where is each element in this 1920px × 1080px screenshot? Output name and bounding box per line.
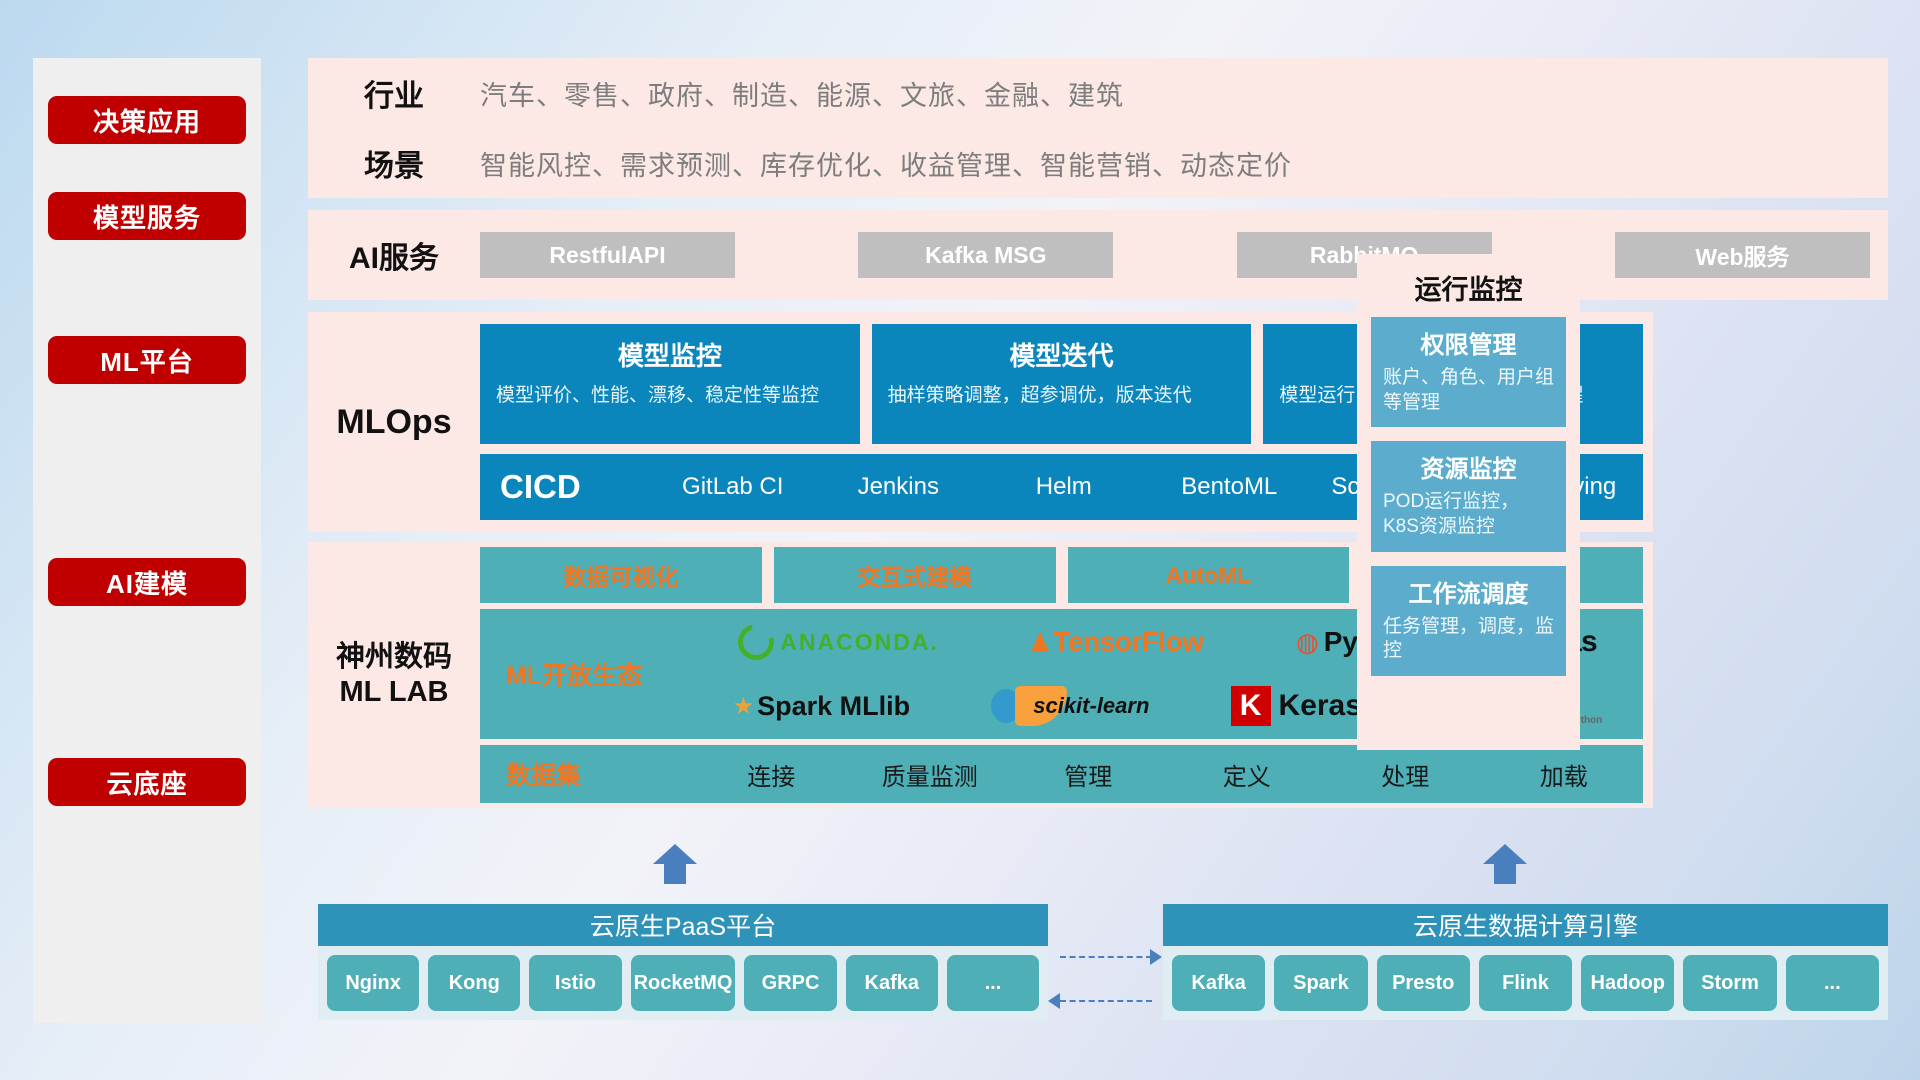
engine-chip[interactable]: Flink (1479, 955, 1572, 1011)
cicd-item[interactable]: BentoML (1147, 474, 1313, 499)
mlops-card-desc: 抽样策略调整，超参调优，版本迭代 (888, 383, 1236, 409)
dataset-row: 数据集 连接 质量监测 管理 定义 处理 加载 (480, 745, 1643, 803)
layer-chip-cloud-base[interactable]: 云底座 (48, 758, 246, 806)
paas-chip[interactable]: Nginx (327, 955, 419, 1011)
dashed-arrow-left-icon (1048, 993, 1060, 1009)
cicd-item[interactable]: GitLab CI (650, 474, 816, 499)
scikit-learn-logo: scikit-learn (991, 686, 1149, 726)
keras-logo: K Keras (1231, 686, 1362, 726)
layer-chip-ai-modeling[interactable]: AI建模 (48, 558, 246, 606)
cicd-item[interactable]: Helm (981, 474, 1147, 499)
monitor-card-resources[interactable]: 资源监控 POD运行监控，K8S资源监控 (1371, 441, 1566, 551)
paas-chip[interactable]: Istio (529, 955, 621, 1011)
tensorflow-mark-icon (1031, 632, 1049, 652)
scenario-row: 场景 智能风控、需求预测、库存优化、收益管理、智能营销、动态定价 (308, 128, 1888, 198)
mlops-card-model-iteration[interactable]: 模型迭代 抽样策略调整，超参调优，版本迭代 (872, 324, 1252, 444)
monitor-card-permissions[interactable]: 权限管理 账户、角色、用户组等管理 (1371, 317, 1566, 427)
layer-chip-decision[interactable]: 决策应用 (48, 96, 246, 144)
dataset-title: 数据集 (506, 756, 692, 792)
monitor-card-workflow[interactable]: 工作流调度 任务管理，调度，监控 (1371, 566, 1566, 676)
runtime-monitor-title: 运行监控 (1357, 254, 1580, 317)
dataset-item[interactable]: 连接 (692, 757, 851, 792)
pytorch-flame-icon: ◍ (1296, 627, 1319, 658)
architecture-diagram: 决策应用 模型服务 ML平台 AI建模 云底座 行业 汽车、零售、政府、制造、能… (0, 0, 1920, 1080)
keras-label: Keras (1279, 689, 1362, 723)
runtime-monitor-panel: 运行监控 权限管理 账户、角色、用户组等管理 资源监控 POD运行监控，K8S资… (1357, 254, 1580, 750)
scenario-label: 场景 (308, 141, 480, 185)
spark-star-icon: ★ (733, 692, 755, 721)
industry-label: 行业 (308, 71, 480, 115)
cicd-item[interactable]: Jenkins (816, 474, 982, 499)
ai-service-chip[interactable]: RestfulAPI (480, 232, 735, 278)
paas-chip[interactable]: RocketMQ (631, 955, 736, 1011)
compute-engine-header: 云原生数据计算引擎 (1163, 904, 1888, 946)
ai-service-band: AI服务 RestfulAPI Kafka MSG RabbitMQ Web服务 (308, 210, 1888, 300)
scenario-value: 智能风控、需求预测、库存优化、收益管理、智能营销、动态定价 (480, 144, 1292, 183)
monitor-card-title: 权限管理 (1383, 325, 1554, 360)
paas-chip[interactable]: Kafka (846, 955, 938, 1011)
monitor-card-title: 工作流调度 (1383, 574, 1554, 609)
dataset-item[interactable]: 加载 (1485, 757, 1644, 792)
dataset-item[interactable]: 管理 (1009, 757, 1168, 792)
tensorflow-label: TensorFlow (1053, 626, 1203, 658)
dashed-connector-left (1060, 1000, 1152, 1002)
paas-header: 云原生PaaS平台 (318, 904, 1048, 946)
anaconda-label: ANACONDA. (780, 629, 939, 656)
tensorflow-logo: TensorFlow (1031, 626, 1203, 658)
ml-tool-chip-data-viz[interactable]: 数据可视化 (480, 547, 762, 603)
compute-engine-chip-group: Kafka Spark Presto Flink Hadoop Storm ..… (1163, 946, 1888, 1020)
ml-lab-label: 神州数码 ML LAB (308, 640, 480, 711)
ai-service-chip[interactable]: Web服务 (1615, 232, 1870, 278)
cloud-base-section: 云原生PaaS平台 Nginx Kong Istio RocketMQ GRPC… (308, 890, 1888, 1025)
mlops-card-title: 模型迭代 (888, 336, 1236, 373)
industry-value: 汽车、零售、政府、制造、能源、文旅、金融、建筑 (480, 74, 1124, 113)
industry-scenario-band: 行业 汽车、零售、政府、制造、能源、文旅、金融、建筑 场景 智能风控、需求预测、… (308, 58, 1888, 198)
engine-chip[interactable]: Spark (1274, 955, 1367, 1011)
ml-lab-label-line1: 神州数码 (308, 640, 480, 675)
keras-mark-icon: K (1231, 686, 1271, 726)
mlops-card-model-monitoring[interactable]: 模型监控 模型评价、性能、漂移、稳定性等监控 (480, 324, 860, 444)
layer-rail: 决策应用 模型服务 ML平台 AI建模 云底座 (33, 58, 261, 1023)
spark-mllib-label: Spark MLlib (757, 691, 910, 722)
engine-chip-more[interactable]: ... (1786, 955, 1879, 1011)
engine-chip[interactable]: Storm (1683, 955, 1776, 1011)
paas-chip-more[interactable]: ... (947, 955, 1039, 1011)
engine-chip[interactable]: Kafka (1172, 955, 1265, 1011)
monitor-card-desc: 账户、角色、用户组等管理 (1383, 366, 1554, 415)
monitor-card-title: 资源监控 (1383, 449, 1554, 484)
paas-chip[interactable]: Kong (428, 955, 520, 1011)
engine-chip[interactable]: Hadoop (1581, 955, 1674, 1011)
ml-tool-chip-interactive[interactable]: 交互式建模 (774, 547, 1056, 603)
scikit-learn-label: scikit-learn (1033, 693, 1149, 719)
dataset-item[interactable]: 质量监测 (851, 757, 1010, 792)
industry-row: 行业 汽车、零售、政府、制造、能源、文旅、金融、建筑 (308, 58, 1888, 128)
ai-service-chip-group: RestfulAPI Kafka MSG RabbitMQ Web服务 (480, 232, 1888, 278)
dashed-arrow-right-icon (1150, 949, 1162, 965)
ml-lab-label-line2: ML LAB (308, 675, 480, 710)
mlops-label: MLOps (308, 403, 480, 442)
layer-chip-model-serving[interactable]: 模型服务 (48, 192, 246, 240)
monitor-card-desc: POD运行监控，K8S资源监控 (1383, 490, 1554, 539)
dataset-item[interactable]: 定义 (1168, 757, 1327, 792)
paas-group: 云原生PaaS平台 Nginx Kong Istio RocketMQ GRPC… (318, 904, 1048, 1020)
compute-engine-group: 云原生数据计算引擎 Kafka Spark Presto Flink Hadoo… (1163, 904, 1888, 1020)
ml-ecosystem-title: ML开放生态 (506, 656, 692, 692)
ai-service-label: AI服务 (308, 233, 480, 277)
mlops-card-title: 模型监控 (496, 336, 844, 373)
spark-mllib-logo: ★ Spark MLlib (733, 691, 911, 722)
cicd-title: CICD (500, 468, 650, 506)
ai-service-chip[interactable]: Kafka MSG (858, 232, 1113, 278)
anaconda-logo: ANACONDA. (738, 624, 939, 660)
ml-tool-chip-automl[interactable]: AutoML (1068, 547, 1350, 603)
anaconda-ring-icon (732, 617, 781, 666)
layer-chip-ml-platform[interactable]: ML平台 (48, 336, 246, 384)
paas-chip-group: Nginx Kong Istio RocketMQ GRPC Kafka ... (318, 946, 1048, 1020)
paas-chip[interactable]: GRPC (744, 955, 836, 1011)
dashed-connector-right (1060, 956, 1152, 958)
monitor-card-desc: 任务管理，调度，监控 (1383, 615, 1554, 664)
mlops-card-desc: 模型评价、性能、漂移、稳定性等监控 (496, 383, 844, 409)
dataset-item[interactable]: 处理 (1326, 757, 1485, 792)
engine-chip[interactable]: Presto (1377, 955, 1470, 1011)
